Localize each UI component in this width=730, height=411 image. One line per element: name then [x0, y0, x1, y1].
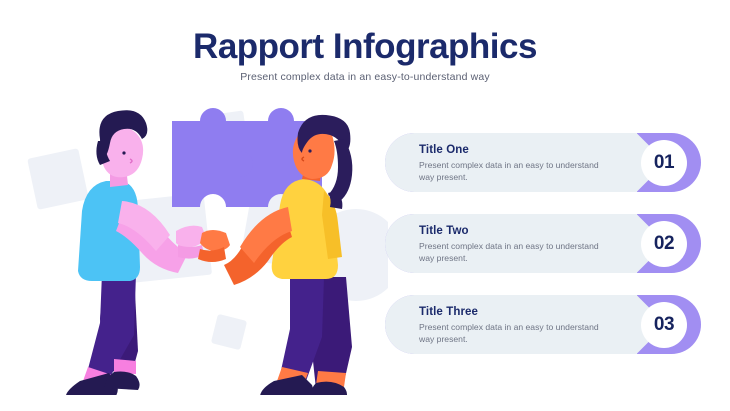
header: Rapport Infographics Present complex dat…: [0, 28, 730, 83]
info-card[interactable]: Title Three Present complex data in an e…: [385, 295, 701, 354]
info-card-list: Title One Present complex data in an eas…: [385, 133, 701, 354]
card-description: Present complex data in an easy to under…: [419, 240, 609, 265]
teamwork-illustration: [18, 95, 388, 395]
info-card[interactable]: Title One Present complex data in an eas…: [385, 133, 701, 192]
card-text-block: Title Three Present complex data in an e…: [419, 306, 609, 346]
infographic-slide: Rapport Infographics Present complex dat…: [0, 0, 730, 411]
info-card[interactable]: Title Two Present complex data in an eas…: [385, 214, 701, 273]
card-description: Present complex data in an easy to under…: [419, 159, 609, 184]
card-number-badge: 02: [641, 221, 687, 267]
page-subtitle: Present complex data in an easy-to-under…: [0, 71, 730, 83]
page-title: Rapport Infographics: [0, 28, 730, 66]
card-title: Title One: [419, 144, 609, 156]
card-number-badge: 03: [641, 302, 687, 348]
card-title: Title Two: [419, 225, 609, 237]
card-description: Present complex data in an easy to under…: [419, 321, 609, 346]
card-text-block: Title One Present complex data in an eas…: [419, 144, 609, 184]
card-number: 03: [654, 314, 674, 336]
card-number: 02: [654, 233, 674, 255]
card-title: Title Three: [419, 306, 609, 318]
card-text-block: Title Two Present complex data in an eas…: [419, 225, 609, 265]
card-number: 01: [654, 152, 674, 174]
card-number-badge: 01: [641, 140, 687, 186]
